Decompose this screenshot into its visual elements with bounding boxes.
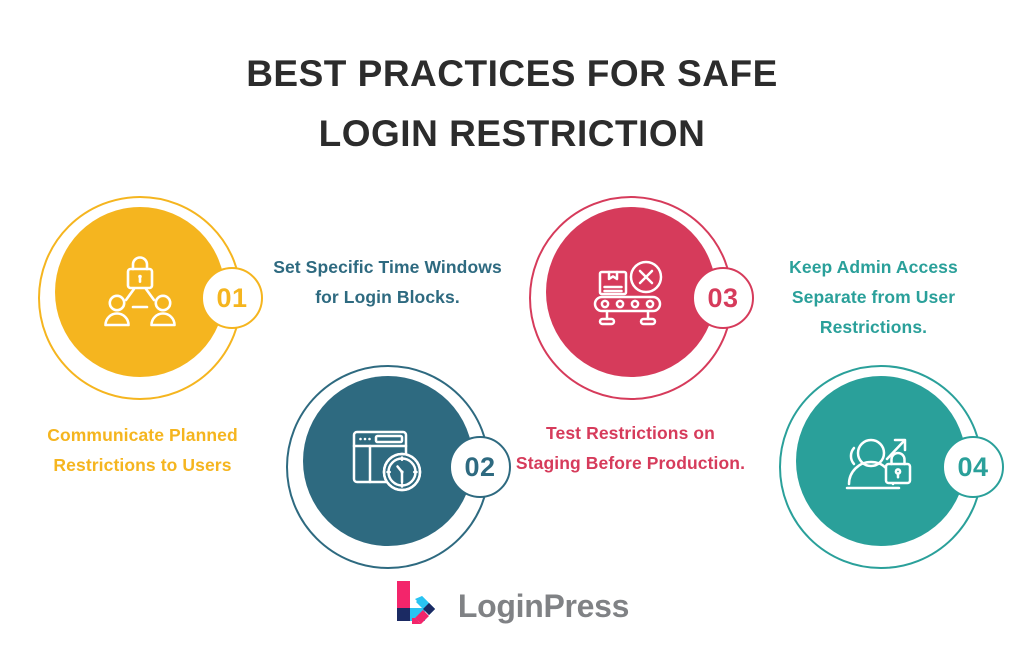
title-line-2: LOGIN RESTRICTION (0, 104, 1024, 164)
step-02-caption: Set Specific Time Windows for Login Bloc… (271, 252, 504, 312)
loginpress-logo-mark (395, 580, 445, 631)
user-arrow-padlock-icon (796, 376, 966, 546)
step-03-number-badge: 03 (692, 267, 754, 329)
step-01-caption: Communicate Planned Restrictions to User… (10, 420, 275, 480)
step-01-number-badge: 01 (201, 267, 263, 329)
step-03-caption: Test Restrictions on Staging Before Prod… (514, 418, 747, 478)
step-04-number: 04 (957, 454, 988, 481)
conveyor-belt-box-reject-icon (546, 207, 716, 377)
step-02-circle: 02 (286, 365, 490, 569)
loginpress-logo[interactable]: LoginPress (0, 580, 1024, 631)
step-01-circle: 01 (38, 196, 242, 400)
step-02-number-badge: 02 (449, 436, 511, 498)
step-04[interactable]: 04 (779, 365, 983, 569)
step-04-circle: 04 (779, 365, 983, 569)
loginpress-logo-text: LoginPress (458, 590, 629, 622)
step-01[interactable]: 01 (38, 196, 242, 400)
infographic-canvas: BEST PRACTICES FOR SAFE LOGIN RESTRICTIO… (0, 0, 1024, 664)
padlock-users-network-icon (55, 207, 225, 377)
step-01-number: 01 (216, 285, 247, 312)
step-02[interactable]: 02 (286, 365, 490, 569)
title-line-1: BEST PRACTICES FOR SAFE (0, 44, 1024, 104)
step-03-number: 03 (707, 285, 738, 312)
page-title: BEST PRACTICES FOR SAFE LOGIN RESTRICTIO… (0, 44, 1024, 164)
browser-window-clock-icon (303, 376, 473, 546)
step-02-number: 02 (464, 454, 495, 481)
step-04-caption: Keep Admin Access Separate from User Res… (757, 252, 990, 342)
step-03-circle: 03 (529, 196, 733, 400)
step-04-number-badge: 04 (942, 436, 1004, 498)
step-03[interactable]: 03 (529, 196, 733, 400)
